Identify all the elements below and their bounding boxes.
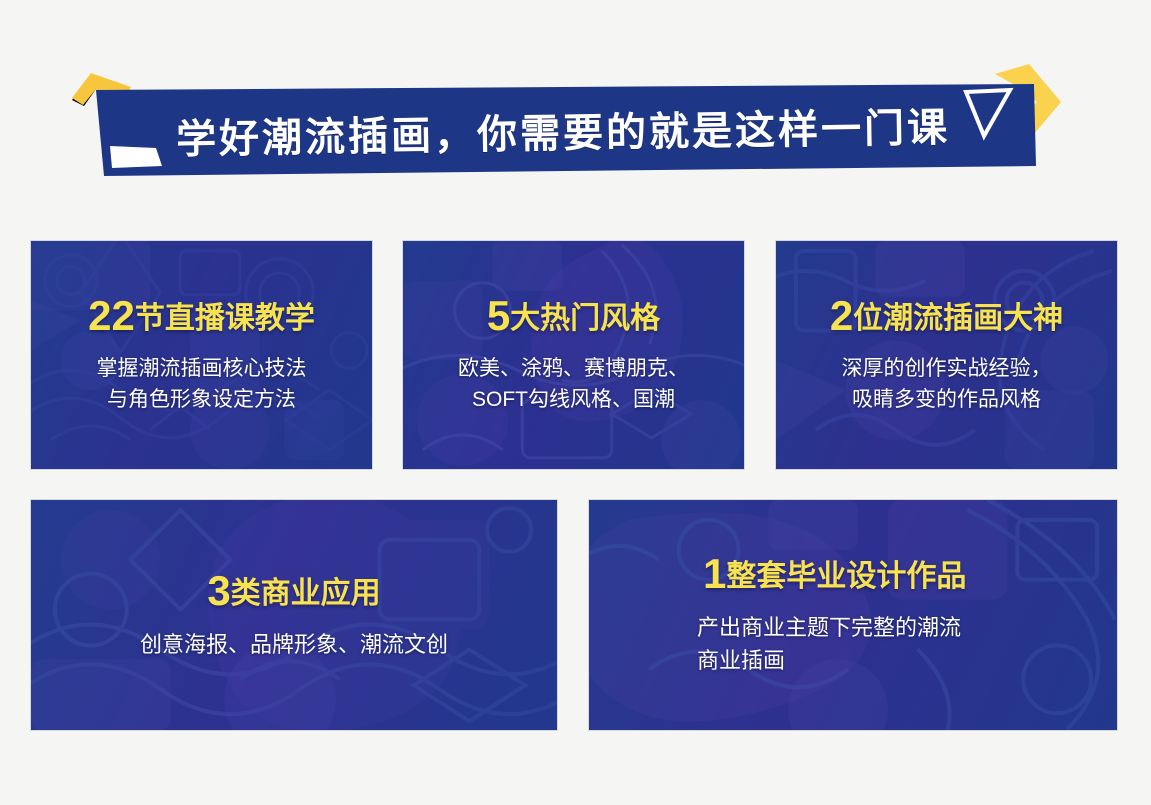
- card-number: 1: [703, 550, 726, 597]
- card-description-line: 欧美、涂鸦、赛博朋克、: [458, 353, 689, 385]
- card-number: 22: [88, 292, 135, 339]
- feature-card-lessons[interactable]: 22节直播课教学 掌握潮流插画核心技法 与角色形象设定方法: [30, 240, 373, 470]
- card-heading-text: 位潮流插画大神: [853, 302, 1063, 335]
- feature-card-styles[interactable]: 5大热门风格 欧美、涂鸦、赛博朋克、 SOFT勾线风格、国潮: [402, 240, 745, 470]
- card-description-line: 产出商业主题下完整的潮流: [697, 611, 961, 644]
- card-description-line: 与角色形象设定方法: [97, 384, 307, 416]
- card-heading-text: 节直播课教学: [135, 302, 315, 335]
- card-number: 2: [830, 292, 853, 339]
- card-heading: 2位潮流插画大神: [830, 295, 1063, 337]
- card-description-line: 商业插画: [697, 644, 961, 677]
- card-description: 欧美、涂鸦、赛博朋克、 SOFT勾线风格、国潮: [458, 353, 689, 416]
- feature-card-applications[interactable]: 3类商业应用 创意海报、品牌形象、潮流文创: [30, 499, 558, 731]
- card-description-line: 创意海报、品牌形象、潮流文创: [140, 628, 448, 661]
- header-banner: 学好潮流插画，你需要的就是这样一门课: [0, 58, 1151, 198]
- card-heading: 1整套毕业设计作品: [703, 553, 966, 595]
- card-number: 5: [487, 292, 510, 339]
- card-description-line: SOFT勾线风格、国潮: [458, 384, 689, 416]
- card-description: 创意海报、品牌形象、潮流文创: [140, 628, 448, 661]
- card-description: 深厚的创作实战经验， 吸睛多变的作品风格: [842, 353, 1052, 416]
- card-description-line: 深厚的创作实战经验，: [842, 353, 1052, 385]
- feature-card-instructors[interactable]: 2位潮流插画大神 深厚的创作实战经验， 吸睛多变的作品风格: [775, 240, 1118, 470]
- card-number: 3: [207, 567, 230, 614]
- banner-plate: [96, 84, 1036, 176]
- card-heading: 3类商业应用: [207, 570, 380, 612]
- card-heading: 22节直播课教学: [88, 295, 315, 337]
- card-heading-text: 大热门风格: [510, 302, 660, 335]
- card-heading-text: 整套毕业设计作品: [726, 560, 966, 593]
- card-heading: 5大热门风格: [487, 295, 660, 337]
- card-description-line: 掌握潮流插画核心技法: [97, 353, 307, 385]
- card-description: 掌握潮流插画核心技法 与角色形象设定方法: [97, 353, 307, 416]
- card-description: 产出商业主题下完整的潮流 商业插画: [697, 611, 961, 677]
- card-description-line: 吸睛多变的作品风格: [842, 384, 1052, 416]
- card-heading-text: 类商业应用: [231, 577, 381, 610]
- feature-card-graduation-work[interactable]: 1整套毕业设计作品 产出商业主题下完整的潮流 商业插画: [588, 499, 1118, 731]
